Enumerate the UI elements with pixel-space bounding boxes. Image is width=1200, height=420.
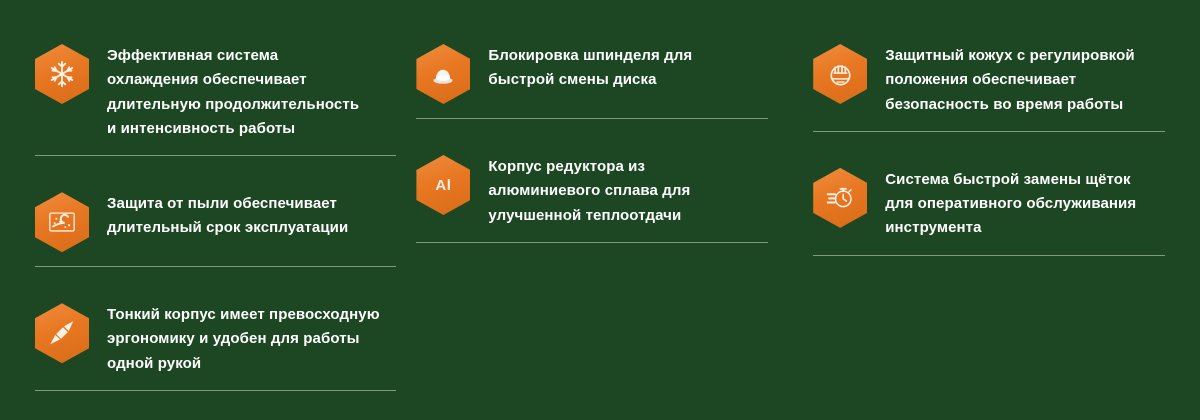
- blade-guard-icon: [813, 44, 867, 104]
- ergonomic-arrows-icon: [35, 303, 89, 363]
- spindle-lock-button-icon: [416, 44, 470, 104]
- aluminium-symbol-label: Al: [435, 178, 451, 193]
- feature-divider: [35, 390, 396, 391]
- feature-item: Блокировка шпинделя для быстрой смены ди…: [416, 30, 768, 104]
- feature-column-3: Защитный кожух с регулировкой положения …: [813, 30, 1165, 420]
- feature-divider: [416, 242, 768, 243]
- feature-item: Защитный кожух с регулировкой положения …: [813, 30, 1165, 117]
- feature-divider: [813, 255, 1165, 256]
- feature-column-2: Блокировка шпинделя для быстрой смены ди…: [416, 30, 768, 420]
- feature-divider: [35, 155, 396, 156]
- feature-item: Эффективная система охлаждения обеспечив…: [35, 30, 396, 141]
- dust-protection-icon: [35, 192, 89, 252]
- quick-brush-change-icon: [813, 168, 867, 228]
- feature-item: Защита от пыли обеспечивает длительный с…: [35, 178, 396, 252]
- feature-divider: [35, 266, 396, 267]
- feature-divider: [416, 118, 768, 119]
- feature-divider: [813, 131, 1165, 132]
- feature-text: Защитный кожух с регулировкой положения …: [885, 42, 1134, 117]
- feature-text: Тонкий корпус имеет превосходную эргоном…: [107, 301, 380, 376]
- aluminium-alloy-icon: Al: [416, 155, 470, 215]
- feature-column-1: Эффективная система охлаждения обеспечив…: [35, 30, 396, 420]
- snowflake-icon: [35, 44, 89, 104]
- feature-text: Блокировка шпинделя для быстрой смены ди…: [488, 42, 692, 93]
- feature-item: Система быстрой замены щёток для операти…: [813, 154, 1165, 241]
- feature-text: Защита от пыли обеспечивает длительный с…: [107, 190, 348, 241]
- features-board: Эффективная система охлаждения обеспечив…: [0, 0, 1200, 420]
- feature-text: Эффективная система охлаждения обеспечив…: [107, 42, 359, 141]
- feature-text: Корпус редуктора из алюминиевого сплава …: [488, 153, 690, 228]
- feature-item: Тонкий корпус имеет превосходную эргоном…: [35, 289, 396, 376]
- feature-item: Al Корпус редуктора из алюминиевого спла…: [416, 141, 768, 228]
- feature-text: Система быстрой замены щёток для операти…: [885, 166, 1136, 241]
